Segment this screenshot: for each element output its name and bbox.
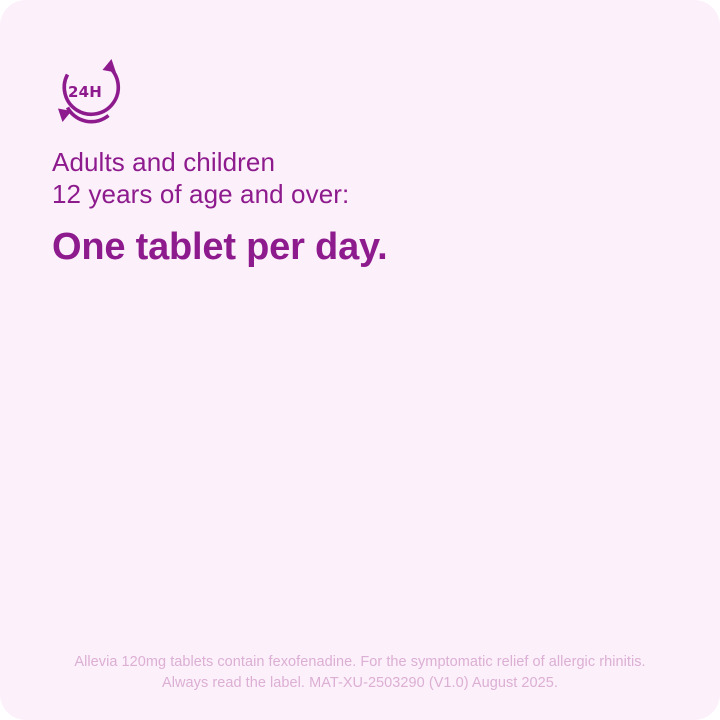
dosage-audience: Adults and children 12 years of age and … [52,146,652,210]
footer-disclaimer: Allevia 120mg tablets contain fexofenadi… [0,652,720,694]
24h-icon-label: 24H [68,83,102,101]
footer-line-1: Allevia 120mg tablets contain fexofenadi… [18,652,702,673]
dosage-information-card: 24H Adults and children 12 years of age … [0,0,720,720]
audience-line-2: 12 years of age and over: [52,178,652,210]
audience-line-1: Adults and children [52,146,652,178]
dosage-instruction: One tablet per day. [52,224,387,270]
footer-line-2: Always read the label. MAT-XU-2503290 (V… [18,673,702,694]
24h-cycle-icon: 24H [50,57,128,125]
